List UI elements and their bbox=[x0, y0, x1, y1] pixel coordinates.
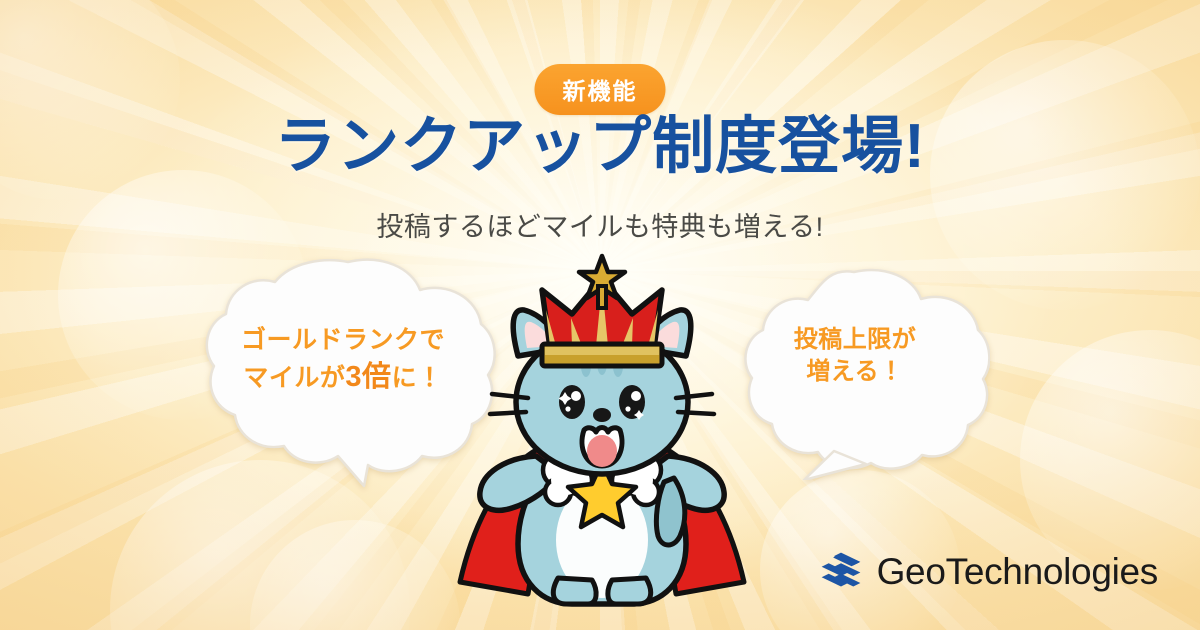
geotechnologies-mark-icon bbox=[819, 550, 863, 594]
page-title: ランクアップ制度登場! bbox=[0, 112, 1200, 181]
mascot-crowned-cat bbox=[432, 252, 772, 630]
cat-mouth bbox=[582, 428, 622, 468]
cat-foot-left bbox=[553, 578, 596, 604]
cat-foot-right bbox=[608, 578, 651, 604]
crown-icon bbox=[542, 256, 662, 366]
brand-logo-text: GeoTechnologies bbox=[877, 551, 1158, 593]
cat-tongue bbox=[587, 435, 617, 467]
brand-logo: GeoTechnologies bbox=[819, 550, 1158, 594]
bubble-left-line2-pre: マイルが bbox=[243, 364, 345, 392]
bubble-left-highlight: 3倍 bbox=[345, 361, 391, 393]
crown-star-stem bbox=[598, 286, 606, 308]
promo-banner: 新機能 ランクアップ制度登場! 投稿するほどマイルも特典も増える! ゴールドラン… bbox=[0, 0, 1200, 630]
page-subtitle: 投稿するほどマイルも特典も増える! bbox=[0, 205, 1200, 244]
cat-nose bbox=[593, 408, 611, 422]
new-feature-badge: 新機能 bbox=[535, 64, 666, 115]
